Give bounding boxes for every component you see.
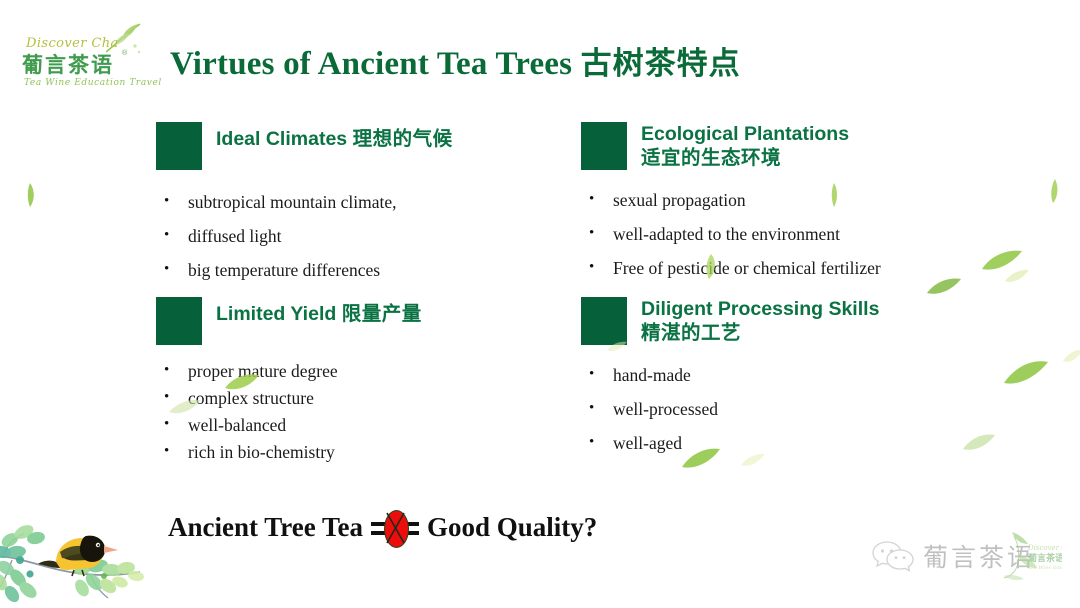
section-title: Limited Yield 限量产量 xyxy=(216,297,422,326)
tea-leaf-icon xyxy=(1046,178,1062,204)
page-title-chinese: 古树茶特点 xyxy=(581,46,741,82)
section-title-chinese: 理想的气候 xyxy=(353,127,453,150)
logo-tagline: Tea Wine Education Travel xyxy=(24,78,162,88)
section-title-chinese: 精湛的工艺 xyxy=(641,321,879,345)
tea-leaf-icon xyxy=(1062,348,1080,366)
page-title-english: Virtues of Ancient Tea Trees xyxy=(170,46,572,82)
wechat-watermark: 葡言茶语 Discover Cha 葡言茶语 Tea Wine Edu Trav… xyxy=(872,528,1072,584)
list-item: sexual propagation xyxy=(585,184,881,216)
tea-leaf-icon xyxy=(1002,358,1050,388)
section-diligent-processing-skills: Diligent Processing Skills 精湛的工艺 hand-ma… xyxy=(581,297,879,461)
conclusion-statement: Ancient Tree Tea Good Quality? xyxy=(168,508,597,546)
tea-leaf-icon xyxy=(980,248,1024,274)
section-header: Ecological Plantations 适宜的生态环境 xyxy=(581,122,881,170)
svg-text:Discover Cha: Discover Cha xyxy=(1027,544,1062,552)
list-item: Free of pesticide or chemical fertilizer xyxy=(585,252,881,284)
registered-trademark-icon: ® xyxy=(122,50,127,57)
list-item: well-adapted to the environment xyxy=(585,218,881,250)
section-marker-square xyxy=(581,297,627,345)
list-item: complex structure xyxy=(160,386,422,411)
not-equal-icon xyxy=(369,508,421,546)
section-title-chinese: 适宜的生态环境 xyxy=(641,146,849,170)
tea-leaf-icon xyxy=(926,276,962,298)
section-header: Ideal Climates 理想的气候 xyxy=(156,122,453,170)
list-item: rich in bio-chemistry xyxy=(160,440,422,465)
cross-out-x-icon xyxy=(384,510,407,546)
brand-logo: Discover Cha 葡言茶语 ® Tea Wine Education T… xyxy=(18,22,148,98)
section-title-english: Diligent Processing Skills xyxy=(641,297,879,321)
section-title: Ecological Plantations 适宜的生态环境 xyxy=(641,122,849,170)
section-title: Ideal Climates 理想的气候 xyxy=(216,122,453,151)
oriole-bird-on-branch-icon xyxy=(0,494,174,608)
brand-logo-watermark-icon: Discover Cha 葡言茶语 Tea Wine Edu Travel xyxy=(984,530,1062,582)
section-title: Diligent Processing Skills 精湛的工艺 xyxy=(641,297,879,345)
list-item-text: diffused light xyxy=(188,226,282,246)
bullet-list: proper mature degree complex structure w… xyxy=(160,359,422,465)
page-title: Virtues of Ancient Tea Trees 古树茶特点 xyxy=(170,38,741,83)
section-ecological-plantations: Ecological Plantations 适宜的生态环境 sexual pr… xyxy=(581,122,881,286)
wechat-icon xyxy=(872,539,914,573)
tea-leaf-icon xyxy=(22,182,38,208)
tea-leaf-icon xyxy=(1004,268,1030,286)
logo-chinese-name: 葡言茶语 xyxy=(22,49,114,79)
list-item: subtropical mountain climate, xyxy=(160,186,453,218)
list-item: proper mature degree xyxy=(160,359,422,384)
section-title-english: Ecological Plantations xyxy=(641,122,849,146)
list-item: well-balanced xyxy=(160,413,422,438)
section-marker-square xyxy=(156,122,202,170)
section-limited-yield: Limited Yield 限量产量 proper mature degree … xyxy=(156,297,422,467)
tea-leaf-icon xyxy=(962,432,996,454)
bullet-list: sexual propagation well-adapted to the e… xyxy=(585,184,881,284)
list-item: well-processed xyxy=(585,393,879,425)
bullet-list: hand-made well-processed well-aged xyxy=(585,359,879,459)
section-marker-square xyxy=(581,122,627,170)
list-item: hand-made xyxy=(585,359,879,391)
equation-left-term: Ancient Tree Tea xyxy=(168,512,363,543)
list-item-continuation: diffused light xyxy=(160,220,453,252)
section-title-chinese: 限量产量 xyxy=(342,302,422,325)
section-ideal-climates: Ideal Climates 理想的气候 subtropical mountai… xyxy=(156,122,453,288)
list-item: big temperature differences xyxy=(160,254,453,286)
section-marker-square xyxy=(156,297,202,345)
svg-text:葡言茶语: 葡言茶语 xyxy=(1027,552,1062,564)
bullet-list: subtropical mountain climate, diffused l… xyxy=(160,186,453,286)
slide-canvas: Discover Cha 葡言茶语 ® Tea Wine Education T… xyxy=(0,0,1080,608)
section-header: Diligent Processing Skills 精湛的工艺 xyxy=(581,297,879,345)
section-title-english: Ideal Climates xyxy=(216,128,347,150)
list-item: well-aged xyxy=(585,427,879,459)
svg-text:Tea Wine Edu Travel: Tea Wine Edu Travel xyxy=(1028,565,1062,571)
section-header: Limited Yield 限量产量 xyxy=(156,297,422,345)
section-title-english: Limited Yield xyxy=(216,303,336,325)
equation-right-term: Good Quality? xyxy=(427,512,597,543)
